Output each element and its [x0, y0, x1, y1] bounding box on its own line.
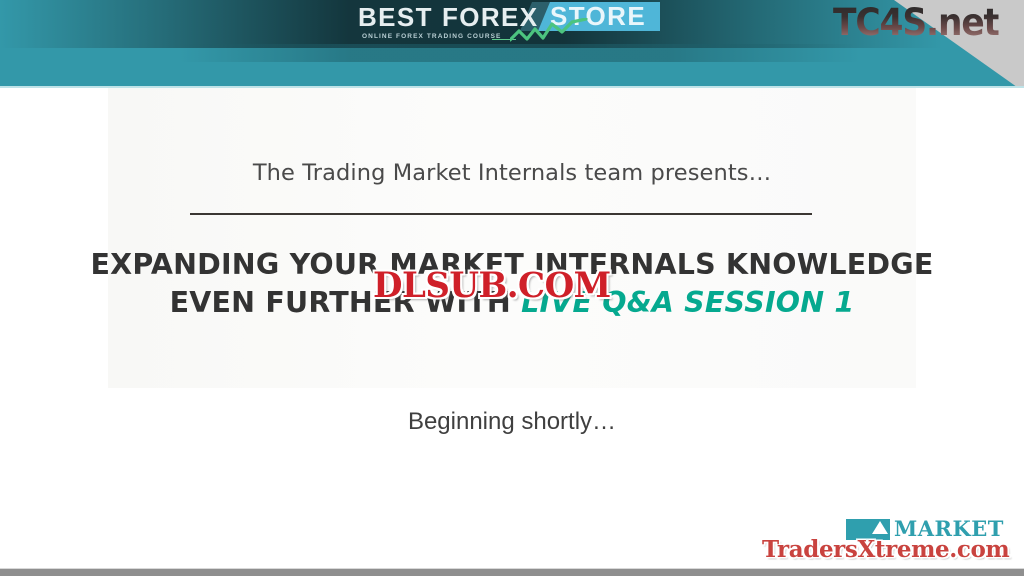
slide-background-band — [108, 88, 916, 388]
title-divider — [190, 213, 812, 215]
watermark-tradersxtreme: TradersXtreme.com — [762, 537, 1009, 563]
slide-body: The Trading Market Internals team presen… — [0, 88, 1024, 570]
best-forex-store-logo[interactable]: BEST FOREX STORE ONLINE FOREX TRADING CO… — [358, 2, 660, 46]
logo-tagline: ONLINE FOREX TRADING COURSE — [362, 33, 501, 40]
presents-line: The Trading Market Internals team presen… — [0, 160, 1024, 186]
market-arrow-glyph — [872, 521, 888, 534]
slide-canvas: BEST FOREX STORE ONLINE FOREX TRADING CO… — [0, 0, 1024, 576]
line-chart-icon — [510, 18, 602, 46]
bottom-gray-bar — [0, 569, 1024, 576]
logo-word-best: BEST — [358, 2, 433, 32]
header-dark-gradient-secondary — [180, 44, 860, 62]
status-line: Beginning shortly… — [0, 408, 1024, 436]
watermark-dlsub: DLSUB.COM — [373, 268, 611, 304]
watermark-tc4s: TC4S.net — [833, 3, 999, 43]
